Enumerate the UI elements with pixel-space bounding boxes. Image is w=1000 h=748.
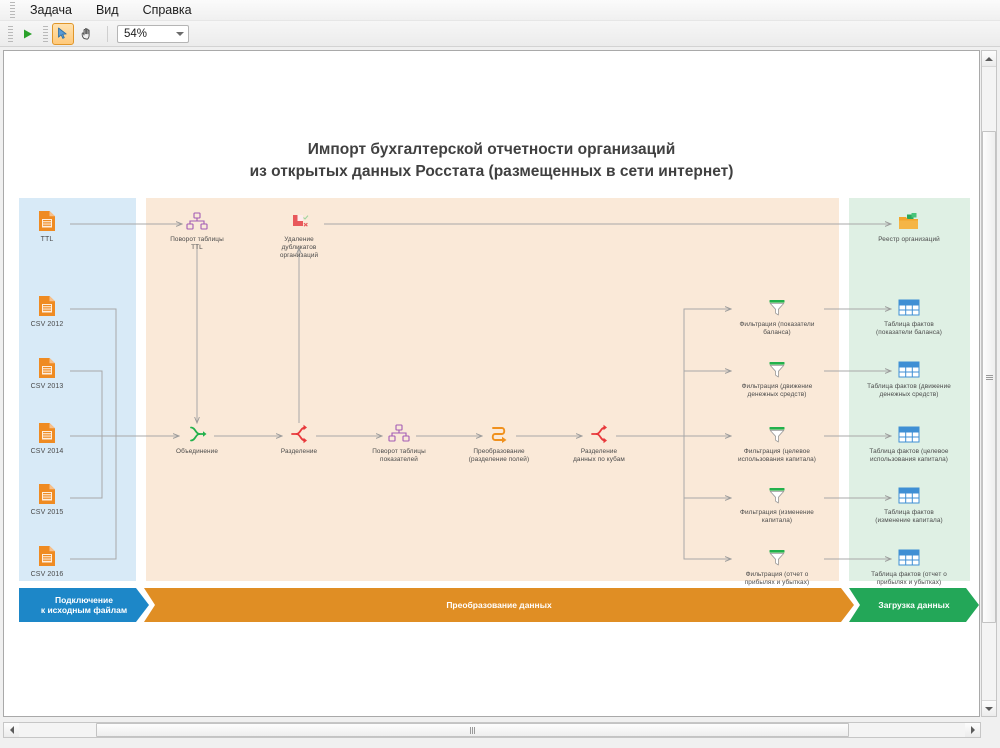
- scrollbar-grip-icon: [470, 727, 475, 734]
- diagram-content: Импорт бухгалтерской отчетности организа…: [4, 51, 979, 716]
- horizontal-scrollbar[interactable]: [3, 722, 981, 738]
- stage-banner-load: Загрузка данных: [849, 588, 979, 622]
- source-node-label: CSV 2012: [3, 321, 102, 329]
- scroll-down-arrow-icon: [985, 707, 993, 711]
- cursor-arrow-icon: [57, 27, 69, 40]
- scroll-right-arrow-icon: [971, 726, 975, 734]
- toolbar: 54%: [0, 21, 1000, 47]
- target-node-label: Таблица фактов (изменение капитала): [854, 509, 964, 525]
- target-node-label: Таблица фактов (целевое использования ка…: [854, 448, 964, 464]
- filter-node-balance[interactable]: Фильтрация (показатели баланса): [722, 291, 832, 337]
- menu-item-help[interactable]: Справка: [132, 1, 203, 19]
- stage-banner-connect: Подключение к исходным файлам: [19, 588, 149, 622]
- filter-funnel-icon: [722, 541, 832, 567]
- fact-table-icon: [854, 479, 964, 505]
- source-node-label: CSV 2015: [3, 509, 102, 517]
- file-csv-icon: [3, 479, 102, 505]
- target-node-fact-profit-loss[interactable]: Таблица фактов (отчет о прибылях и убытк…: [854, 541, 964, 587]
- merge-icon: [142, 418, 252, 444]
- deduplicate-icon: [244, 206, 354, 232]
- transform-node-label: Удаление дубликатов организаций: [244, 236, 354, 260]
- pan-tool-button[interactable]: [76, 23, 98, 45]
- target-node-fact-cashflow[interactable]: Таблица фактов (движение денежных средст…: [854, 353, 964, 399]
- stage-banner-transform: Преобразование данных: [144, 588, 854, 622]
- transform-node-merge[interactable]: Объединение: [142, 418, 252, 456]
- transform-node-split-cubes[interactable]: Разделение данных по кубам: [544, 418, 654, 464]
- filter-funnel-icon: [722, 479, 832, 505]
- source-node-csv-2015[interactable]: CSV 2015: [3, 479, 102, 517]
- file-csv-icon: [3, 291, 102, 317]
- source-node-csv-2013[interactable]: CSV 2013: [3, 353, 102, 391]
- stage-banner-connect-line1: Подключение: [41, 595, 127, 605]
- zoom-level-combobox[interactable]: 54%: [117, 25, 189, 43]
- source-node-label: CSV 2013: [3, 383, 102, 391]
- select-tool-button[interactable]: [52, 23, 74, 45]
- transform-node-convert[interactable]: Преобразование (разделение полей): [444, 418, 554, 464]
- source-node-csv-2014[interactable]: CSV 2014: [3, 418, 102, 456]
- file-ttl-icon: [3, 206, 102, 232]
- menu-grip[interactable]: [10, 2, 15, 18]
- transform-node-pivot-indicators[interactable]: Поворот таблицы показателей: [344, 418, 454, 464]
- scroll-up-button[interactable]: [982, 51, 996, 67]
- filter-funnel-icon: [722, 353, 832, 379]
- source-node-ttl[interactable]: TTL: [3, 206, 102, 244]
- pivot-table-icon: [344, 418, 454, 444]
- fact-table-icon: [854, 541, 964, 567]
- target-node-label: Таблица фактов (показатели баланса): [854, 321, 964, 337]
- source-node-label: CSV 2014: [3, 448, 102, 456]
- file-csv-icon: [3, 353, 102, 379]
- page-title-line1: Импорт бухгалтерской отчетности организа…: [4, 139, 979, 161]
- vertical-scrollbar[interactable]: [981, 50, 997, 717]
- stage-banner-transform-label: Преобразование данных: [446, 600, 551, 610]
- target-node-fact-capital-use[interactable]: Таблица фактов (целевое использования ка…: [854, 418, 964, 464]
- target-node-label: Реестр организаций: [854, 236, 964, 244]
- target-node-fact-balance[interactable]: Таблица фактов (показатели баланса): [854, 291, 964, 337]
- source-node-csv-2016[interactable]: CSV 2016: [3, 541, 102, 579]
- split-icon: [244, 418, 354, 444]
- filter-node-label: Фильтрация (отчет о прибылях и убытках): [722, 571, 832, 587]
- split-icon: [544, 418, 654, 444]
- toolbar-grip-2[interactable]: [43, 26, 48, 42]
- fact-table-icon: [854, 291, 964, 317]
- filter-node-label: Фильтрация (изменение капитала): [722, 509, 832, 525]
- scroll-left-button[interactable]: [4, 723, 19, 737]
- menu-item-task[interactable]: Задача: [19, 1, 83, 19]
- file-csv-icon: [3, 418, 102, 444]
- transform-node-split[interactable]: Разделение: [244, 418, 354, 456]
- stage-banner-load-label: Загрузка данных: [878, 600, 949, 610]
- page-title-line2: из открытых данных Росстата (размещенных…: [4, 161, 979, 183]
- hand-icon: [80, 27, 94, 41]
- zoom-level-value: 54%: [124, 28, 147, 40]
- scroll-down-button[interactable]: [982, 700, 996, 716]
- transform-node-label: Разделение данных по кубам: [544, 448, 654, 464]
- transform-node-label: Поворот таблицы TTL: [142, 236, 252, 252]
- transform-node-label: Объединение: [142, 448, 252, 456]
- fact-table-icon: [854, 353, 964, 379]
- filter-node-label: Фильтрация (движение денежных средств): [722, 383, 832, 399]
- page-title: Импорт бухгалтерской отчетности организа…: [4, 139, 979, 183]
- vertical-scrollbar-thumb[interactable]: [982, 131, 996, 623]
- filter-node-profit-loss[interactable]: Фильтрация (отчет о прибылях и убытках): [722, 541, 832, 587]
- target-node-label: Таблица фактов (отчет о прибылях и убытк…: [854, 571, 964, 587]
- transform-node-pivot-ttl[interactable]: Поворот таблицы TTL: [142, 206, 252, 252]
- transform-node-label: Преобразование (разделение полей): [444, 448, 554, 464]
- convert-icon: [444, 418, 554, 444]
- filter-node-cashflow[interactable]: Фильтрация (движение денежных средств): [722, 353, 832, 399]
- folder-icon: [854, 206, 964, 232]
- fact-table-icon: [854, 418, 964, 444]
- transform-node-label: Разделение: [244, 448, 354, 456]
- stage-banner-connect-line2: к исходным файлам: [41, 605, 127, 615]
- toolbar-grip-1[interactable]: [8, 26, 13, 42]
- menu-item-view[interactable]: Вид: [85, 1, 130, 19]
- diagram-canvas[interactable]: Импорт бухгалтерской отчетности организа…: [3, 50, 980, 717]
- target-node-registry[interactable]: Реестр организаций: [854, 206, 964, 244]
- target-node-fact-capital-change[interactable]: Таблица фактов (изменение капитала): [854, 479, 964, 525]
- file-csv-icon: [3, 541, 102, 567]
- scroll-left-arrow-icon: [10, 726, 14, 734]
- filter-node-label: Фильтрация (показатели баланса): [722, 321, 832, 337]
- chevron-down-icon[interactable]: [176, 32, 184, 36]
- filter-node-capital-use[interactable]: Фильтрация (целевое использования капита…: [722, 418, 832, 464]
- scrollbar-corner: [981, 722, 997, 738]
- application-window: Задача Вид Справка: [0, 0, 1000, 748]
- source-node-csv-2012[interactable]: CSV 2012: [3, 291, 102, 329]
- scroll-up-arrow-icon: [985, 57, 993, 61]
- run-button[interactable]: [17, 23, 39, 45]
- transform-node-label: Поворот таблицы показателей: [344, 448, 454, 464]
- pivot-table-icon: [142, 206, 252, 232]
- transform-node-deduplicate[interactable]: Удаление дубликатов организаций: [244, 206, 354, 260]
- scroll-right-button[interactable]: [965, 723, 980, 737]
- scrollbar-grip-icon: [986, 375, 993, 380]
- play-icon: [22, 28, 34, 40]
- target-node-label: Таблица фактов (движение денежных средст…: [854, 383, 964, 399]
- filter-node-label: Фильтрация (целевое использования капита…: [722, 448, 832, 464]
- filter-funnel-icon: [722, 291, 832, 317]
- source-node-label: CSV 2016: [3, 571, 102, 579]
- filter-funnel-icon: [722, 418, 832, 444]
- source-node-label: TTL: [3, 236, 102, 244]
- horizontal-scrollbar-thumb[interactable]: [96, 723, 849, 737]
- menu-bar: Задача Вид Справка: [0, 0, 1000, 21]
- filter-node-capital-change[interactable]: Фильтрация (изменение капитала): [722, 479, 832, 525]
- toolbar-separator: [107, 26, 108, 42]
